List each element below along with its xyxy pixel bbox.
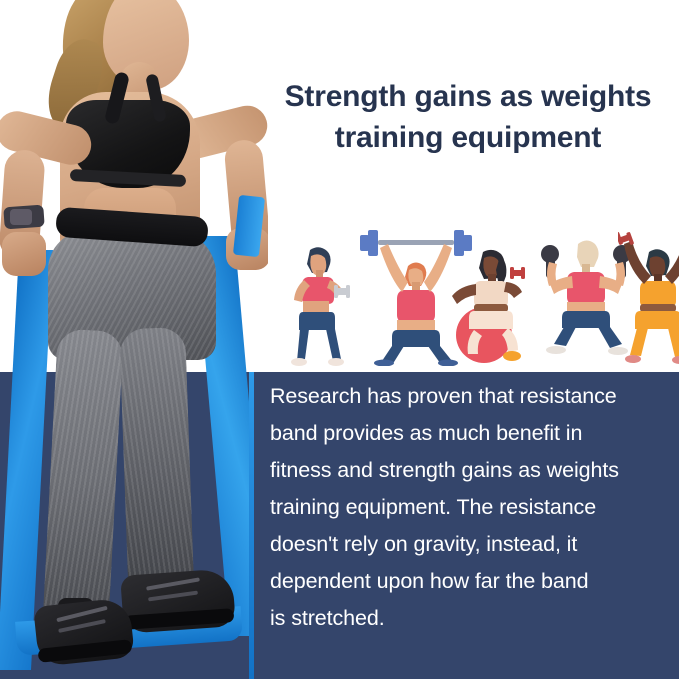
hero-photo xyxy=(0,0,268,679)
description-line-6: dependent upon how far the band xyxy=(270,563,668,600)
figure-woman-dumbbell-curl xyxy=(284,244,350,366)
figure-woman-arms-raised xyxy=(618,230,679,366)
headline: Strength gains as weights training equip… xyxy=(262,76,674,159)
model-right-leg xyxy=(119,327,195,609)
description-panel: Research has proven that resistance band… xyxy=(249,372,679,679)
headline-line-1: Strength gains as weights xyxy=(262,76,674,117)
figure-woman-exercise-ball xyxy=(450,246,542,366)
description-line-1: Research has proven that resistance xyxy=(270,378,668,415)
description-line-5: doesn't rely on gravity, instead, it xyxy=(270,526,668,563)
description-line-7: is stretched. xyxy=(270,600,668,637)
panel-accent-stripe xyxy=(249,372,254,679)
description-line-3: fitness and strength gains as weights xyxy=(270,452,668,489)
model-left-hand-grip xyxy=(2,232,46,276)
description-text: Research has proven that resistance band… xyxy=(270,378,668,637)
description-line-2: band provides as much benefit in xyxy=(270,415,668,452)
exercise-illustration-strip xyxy=(268,210,679,376)
product-marketing-image: Strength gains as weights training equip… xyxy=(0,0,679,679)
description-line-4: training equipment. The resistance xyxy=(270,489,668,526)
smartwatch-face xyxy=(10,209,32,225)
headline-line-2: training equipment xyxy=(262,117,674,158)
